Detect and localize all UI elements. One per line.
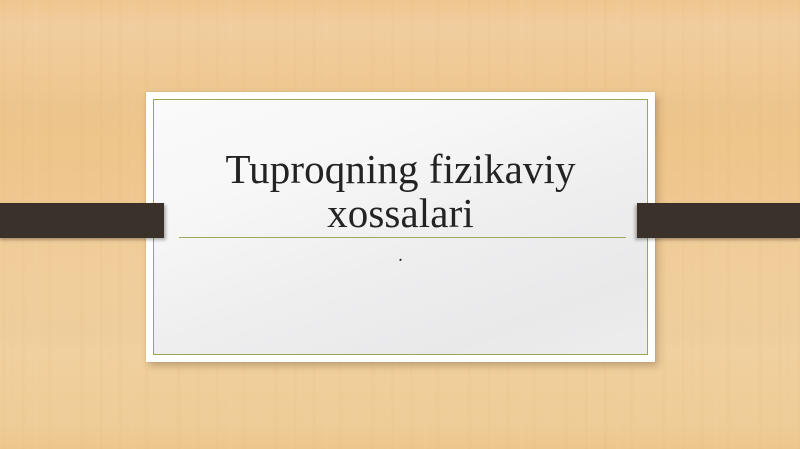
slide-card-inner: Tuproqning fizikaviy xossalari . [153,99,648,355]
title-underline-rule [179,237,626,238]
title-slide: Tuproqning fizikaviy xossalari . [0,0,800,449]
page-title: Tuproqning fizikaviy xossalari [178,148,623,236]
dark-band-right [637,203,800,238]
slide-subtitle: . [178,245,623,268]
dark-band-left [0,203,164,238]
slide-card: Tuproqning fizikaviy xossalari . [146,92,655,362]
title-block: Tuproqning fizikaviy xossalari [178,148,623,236]
